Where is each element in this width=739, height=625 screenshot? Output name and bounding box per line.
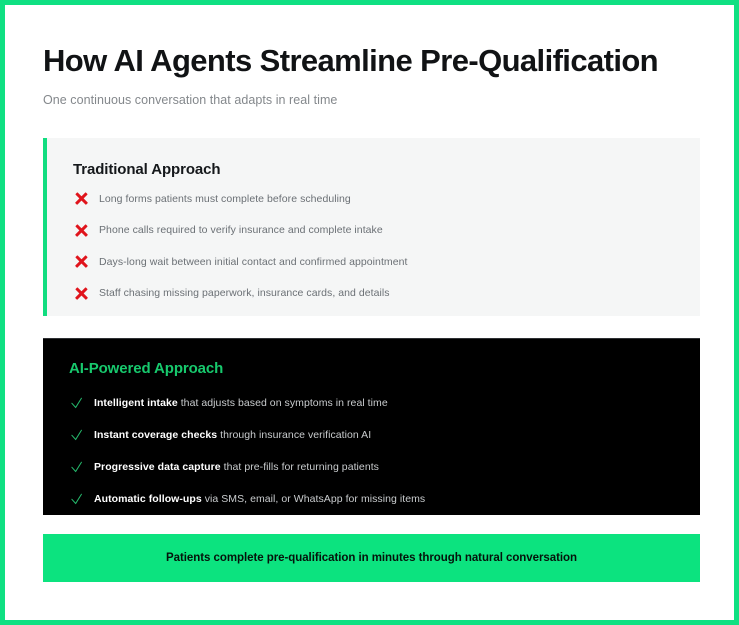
list-item-label: Automatic follow-ups via SMS, email, or … xyxy=(94,492,425,506)
page-subtitle: One continuous conversation that adapts … xyxy=(43,79,696,108)
list-item-rest: that pre-fills for returning patients xyxy=(221,461,379,473)
list-item-rest: through insurance verification AI xyxy=(217,429,371,441)
slide-frame: How AI Agents Streamline Pre-Qualificati… xyxy=(0,0,739,625)
check-mark-icon xyxy=(69,428,83,442)
list-item-lead: Automatic follow-ups xyxy=(94,493,202,505)
list-item-lead: Intelligent intake xyxy=(94,397,178,409)
x-mark-icon xyxy=(73,222,90,239)
ai-powered-approach-card: AI-Powered Approach Intelligent intake t… xyxy=(43,338,700,515)
list-item: Long forms patients must complete before… xyxy=(73,186,674,212)
x-mark-icon xyxy=(73,253,90,270)
list-item-label: Staff chasing missing paperwork, insuran… xyxy=(99,286,390,300)
list-item-label: Progressive data capture that pre-fills … xyxy=(94,460,379,474)
ai-powered-approach-list: Intelligent intake that adjusts based on… xyxy=(69,389,674,512)
list-item-label: Days-long wait between initial contact a… xyxy=(99,255,407,269)
list-item: Instant coverage checks through insuranc… xyxy=(69,421,674,448)
list-item-lead: Progressive data capture xyxy=(94,461,221,473)
slide-content: How AI Agents Streamline Pre-Qualificati… xyxy=(5,5,734,620)
summary-banner-text: Patients complete pre-qualification in m… xyxy=(166,552,577,564)
traditional-approach-list: Long forms patients must complete before… xyxy=(73,186,674,306)
check-mark-icon xyxy=(69,460,83,474)
list-item-label: Intelligent intake that adjusts based on… xyxy=(94,396,388,410)
list-item: Progressive data capture that pre-fills … xyxy=(69,453,674,480)
traditional-approach-heading: Traditional Approach xyxy=(73,160,674,180)
list-item-rest: via SMS, email, or WhatsApp for missing … xyxy=(202,493,425,505)
traditional-approach-card: Traditional Approach Long forms patients… xyxy=(43,138,700,316)
x-mark-icon xyxy=(73,190,90,207)
list-item-label: Phone calls required to verify insurance… xyxy=(99,223,383,237)
x-mark-icon xyxy=(73,285,90,302)
list-item-label: Long forms patients must complete before… xyxy=(99,192,351,206)
page-title: How AI Agents Streamline Pre-Qualificati… xyxy=(43,5,696,79)
list-item-lead: Instant coverage checks xyxy=(94,429,217,441)
list-item-label: Instant coverage checks through insuranc… xyxy=(94,428,371,442)
summary-banner: Patients complete pre-qualification in m… xyxy=(43,534,700,582)
list-item: Intelligent intake that adjusts based on… xyxy=(69,389,674,416)
check-mark-icon xyxy=(69,492,83,506)
check-mark-icon xyxy=(69,396,83,410)
list-item: Staff chasing missing paperwork, insuran… xyxy=(73,281,674,307)
list-item: Days-long wait between initial contact a… xyxy=(73,249,674,275)
list-item-rest: that adjusts based on symptoms in real t… xyxy=(178,397,388,409)
ai-powered-approach-heading: AI-Powered Approach xyxy=(69,359,674,379)
list-item: Automatic follow-ups via SMS, email, or … xyxy=(69,485,674,512)
list-item: Phone calls required to verify insurance… xyxy=(73,218,674,244)
